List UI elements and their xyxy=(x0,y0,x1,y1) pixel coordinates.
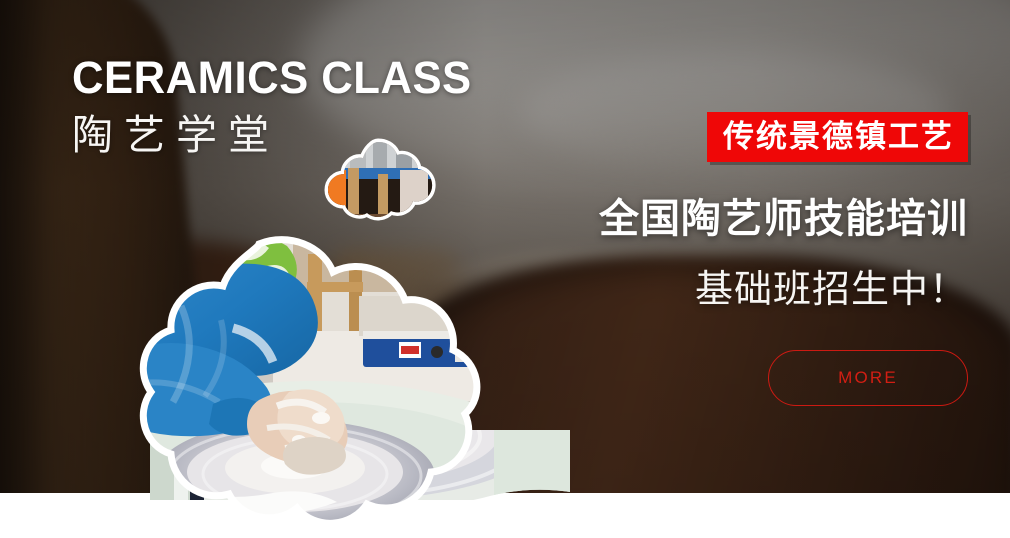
ceramics-class-banner: CERAMICS CLASS 陶艺学堂 xyxy=(0,0,1010,538)
more-button-wrap: MORE xyxy=(548,350,968,406)
promo-headline-primary: 全国陶艺师技能培训 xyxy=(548,196,968,242)
banner-promo-column: 传统景德镇工艺 全国陶艺师技能培训 基础班招生中！ MORE xyxy=(548,112,968,406)
banner-title-block: CERAMICS CLASS 陶艺学堂 xyxy=(72,52,484,160)
cloud-photo-frame-large xyxy=(63,236,533,516)
cloud-image-large xyxy=(63,232,545,538)
status-badge: 传统景德镇工艺 xyxy=(707,112,968,162)
more-button[interactable]: MORE xyxy=(768,350,968,406)
page-title-chinese: 陶艺学堂 xyxy=(72,110,484,160)
page-title-english: CERAMICS CLASS xyxy=(72,52,472,104)
promo-headline-secondary: 基础班招生中！ xyxy=(548,268,968,312)
